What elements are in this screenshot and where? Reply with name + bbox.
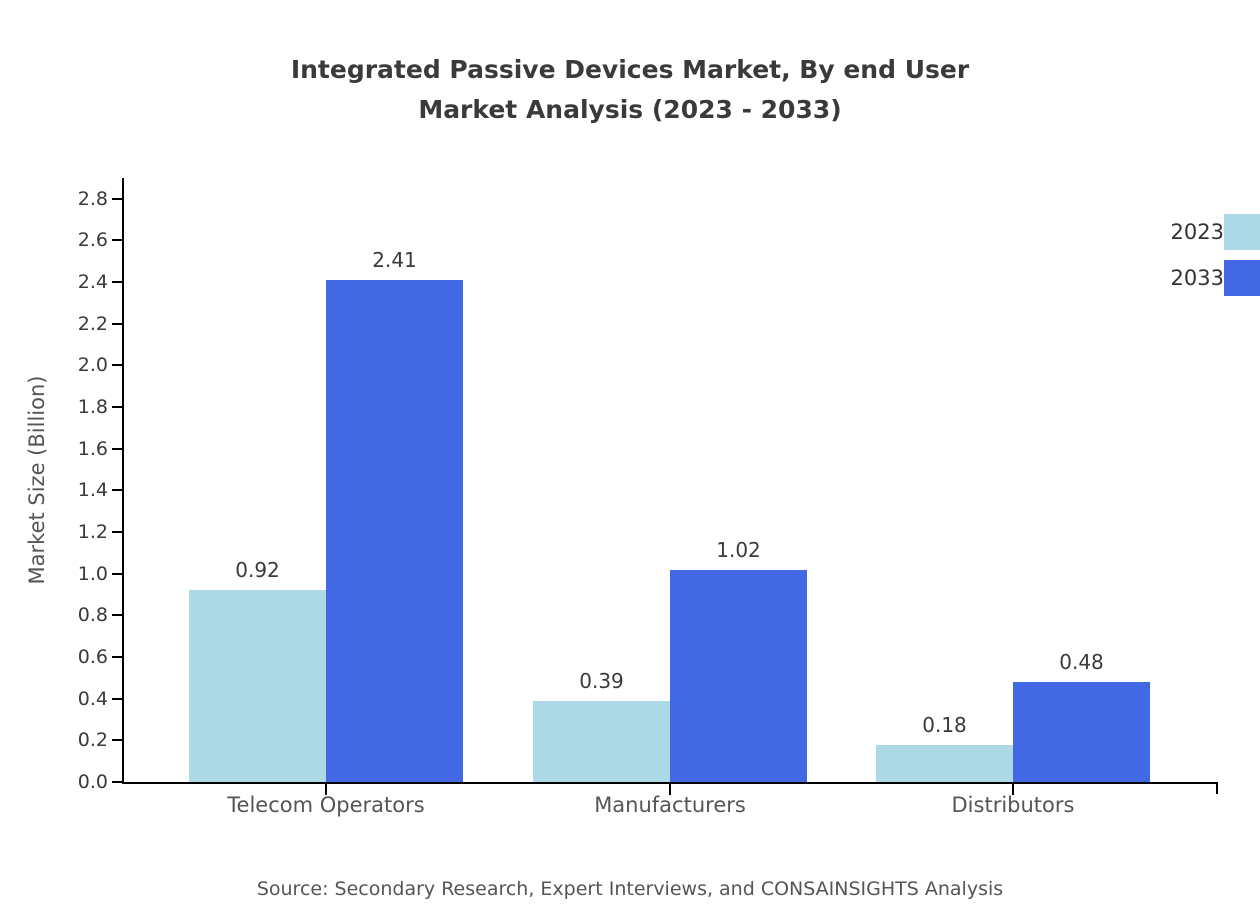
x-axis-tick-label: Manufacturers xyxy=(490,793,850,817)
y-axis-tick xyxy=(112,531,124,533)
y-axis-tick-label: 2.2 xyxy=(0,313,108,335)
chart-figure: Integrated Passive Devices Market, By en… xyxy=(0,0,1260,920)
y-axis-tick-label: 2.0 xyxy=(0,354,108,376)
x-axis-tick-label: Distributors xyxy=(833,793,1193,817)
y-axis-tick-label: 2.8 xyxy=(0,188,108,210)
y-axis-tick-label: 0.4 xyxy=(0,688,108,710)
bar-value-label: 0.48 xyxy=(1002,650,1162,674)
legend-color-swatch xyxy=(1224,260,1260,296)
y-axis-tick-label: 0.6 xyxy=(0,646,108,668)
y-axis-tick xyxy=(112,281,124,283)
y-axis-tick xyxy=(112,406,124,408)
y-axis-tick xyxy=(112,448,124,450)
y-axis-tick xyxy=(112,781,124,783)
y-axis-spine xyxy=(122,178,124,784)
bar[interactable] xyxy=(876,745,1013,782)
y-axis-tick-label: 1.8 xyxy=(0,396,108,418)
y-axis-tick-label: 2.4 xyxy=(0,271,108,293)
y-axis-tick xyxy=(112,364,124,366)
bar-value-label: 0.18 xyxy=(865,713,1025,737)
legend-color-swatch xyxy=(1224,214,1260,250)
x-axis-end-tick xyxy=(1216,782,1218,794)
legend-item-label: 2033 xyxy=(1171,258,1224,298)
y-axis-tick-label: 0.8 xyxy=(0,604,108,626)
bar[interactable] xyxy=(670,570,807,782)
bar[interactable] xyxy=(1013,682,1150,782)
y-axis-tick-label: 2.6 xyxy=(0,229,108,251)
source-note: Source: Secondary Research, Expert Inter… xyxy=(0,878,1260,900)
y-axis-tick xyxy=(112,698,124,700)
bar-value-label: 0.92 xyxy=(178,558,338,582)
bar-value-label: 2.41 xyxy=(315,248,475,272)
y-axis-tick xyxy=(112,739,124,741)
legend-item[interactable]: 2023 xyxy=(1120,212,1260,252)
y-axis-tick-label: 1.6 xyxy=(0,438,108,460)
y-axis-tick xyxy=(112,489,124,491)
y-axis-tick xyxy=(112,198,124,200)
y-axis-tick xyxy=(112,239,124,241)
bar[interactable] xyxy=(533,701,670,782)
y-axis-tick-label: 0.0 xyxy=(0,771,108,793)
bar-value-label: 0.39 xyxy=(522,669,682,693)
x-axis-tick-label: Telecom Operators xyxy=(146,793,506,817)
bar-value-label: 1.02 xyxy=(659,538,819,562)
y-axis-tick-label: 1.0 xyxy=(0,563,108,585)
bar[interactable] xyxy=(189,590,326,782)
bar[interactable] xyxy=(326,280,463,782)
chart-title-line-1: Integrated Passive Devices Market, By en… xyxy=(291,55,969,84)
y-axis-tick-label: 1.2 xyxy=(0,521,108,543)
y-axis-tick xyxy=(112,323,124,325)
y-axis-tick-label: 1.4 xyxy=(0,479,108,501)
chart-title-line-2: Market Analysis (2023 - 2033) xyxy=(0,90,1260,130)
chart-legend: 20232033 xyxy=(1120,212,1260,304)
y-axis-tick xyxy=(112,614,124,616)
y-axis-tick-label: 0.2 xyxy=(0,729,108,751)
chart-title: Integrated Passive Devices Market, By en… xyxy=(0,50,1260,130)
legend-item-label: 2023 xyxy=(1171,212,1224,252)
y-axis-tick xyxy=(112,656,124,658)
legend-item[interactable]: 2033 xyxy=(1120,258,1260,298)
y-axis-tick xyxy=(112,573,124,575)
